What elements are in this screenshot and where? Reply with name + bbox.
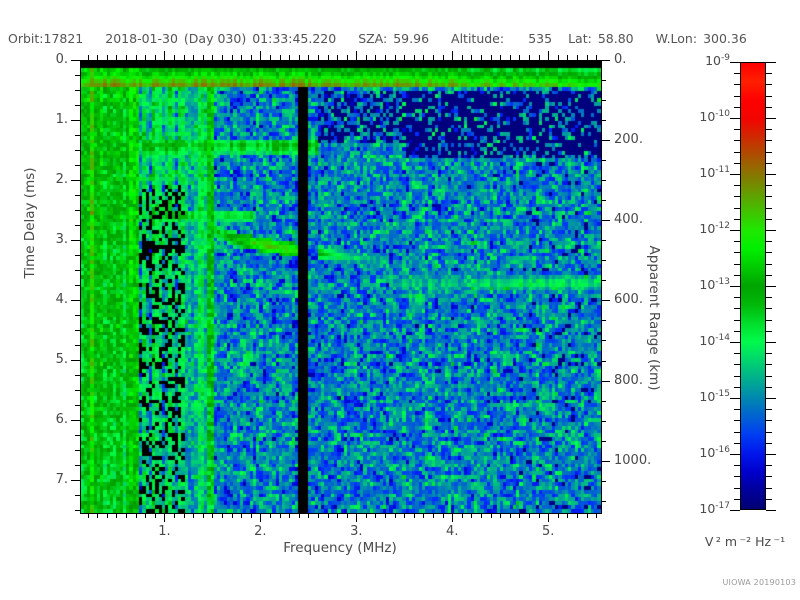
y-axis-right-title: Apparent Range (km) <box>646 218 662 418</box>
colorbar-tick-mantissa: 10 <box>699 109 715 124</box>
colorbar-tick-left <box>734 308 740 309</box>
x-tick-mark-top <box>280 55 281 60</box>
colorbar-tick-exponent: -13 <box>715 277 730 287</box>
colorbar-tick-exponent: -14 <box>715 333 730 343</box>
x-tick-mark-top <box>423 55 424 60</box>
colorbar-tick-right <box>766 454 776 455</box>
y-left-tick-mark <box>75 75 80 76</box>
sza-value: 59.96 <box>393 31 429 46</box>
colorbar-tick-label: 10-13 <box>678 277 730 292</box>
x-tick-mark-top <box>232 55 233 60</box>
wlon-label: W.Lon: <box>656 31 697 46</box>
colorbar-tick-right <box>766 308 772 309</box>
x-tick-mark-top <box>107 55 108 60</box>
observation-time: 01:33:45.220 <box>252 31 336 46</box>
colorbar-tick-left <box>734 73 740 74</box>
colorbar-tick-right <box>766 129 772 130</box>
y-right-tick-mark <box>601 340 606 341</box>
x-tick-mark <box>471 513 472 518</box>
colorbar-tick-mantissa: 10 <box>699 221 715 236</box>
colorbar-tick-right <box>766 196 772 197</box>
y-axis-left-title: Time Delay (ms) <box>22 143 38 303</box>
wlon-value: 300.36 <box>703 31 747 46</box>
colorbar-tick-exponent: -9 <box>721 53 730 63</box>
x-tick-mark <box>212 513 213 518</box>
y-left-tick-mark <box>71 360 80 361</box>
colorbar-tick-right <box>766 443 772 444</box>
x-tick-mark-top <box>462 55 463 60</box>
x-tick-mark <box>375 513 376 518</box>
x-tick-mark <box>529 513 530 518</box>
x-tick-mark-top <box>155 55 156 60</box>
colorbar-tick-right <box>766 208 772 209</box>
colorbar-tick-exponent: -16 <box>715 445 730 455</box>
colorbar-tick-left <box>734 387 740 388</box>
radargram-heatmap <box>81 61 601 513</box>
x-tick-mark <box>308 513 309 518</box>
colorbar-tick-right <box>766 353 772 354</box>
colorbar-tick-exponent: -12 <box>715 221 730 231</box>
x-tick-label: 2. <box>240 524 280 539</box>
y-left-tick-label: 7. <box>26 472 68 487</box>
x-tick-mark-top <box>548 51 549 60</box>
x-tick-mark <box>222 513 223 518</box>
y-right-tick-mark <box>601 361 606 362</box>
y-right-tick-mark <box>601 140 610 141</box>
y-left-tick-label: 6. <box>26 412 68 427</box>
colorbar-tick-left <box>734 488 740 489</box>
colorbar-tick-left <box>734 376 740 377</box>
colorbar-tick-right <box>766 107 772 108</box>
y-right-tick-mark <box>601 280 606 281</box>
colorbar-tick-left <box>730 510 740 511</box>
x-tick-mark <box>548 513 549 522</box>
x-tick-mark-top <box>193 55 194 60</box>
x-tick-mark <box>443 513 444 518</box>
x-tick-mark <box>184 513 185 518</box>
colorbar-tick-left <box>734 465 740 466</box>
x-tick-mark <box>395 513 396 518</box>
x-tick-mark <box>539 513 540 518</box>
x-tick-mark <box>337 513 338 518</box>
y-left-tick-mark <box>75 390 80 391</box>
x-tick-mark <box>193 513 194 518</box>
colorbar-tick-right <box>766 264 772 265</box>
colorbar-tick-label: 10-9 <box>678 53 730 68</box>
colorbar-tick-left <box>734 163 740 164</box>
x-tick-mark-top <box>126 55 127 60</box>
x-tick-mark <box>452 513 453 522</box>
x-tick-mark <box>107 513 108 518</box>
x-tick-mark-top <box>433 55 434 60</box>
colorbar-tick-left <box>734 208 740 209</box>
colorbar-tick-left <box>734 84 740 85</box>
colorbar-tick-left <box>734 331 740 332</box>
colorbar-tick-left <box>734 140 740 141</box>
colorbar-tick-right <box>766 241 772 242</box>
colorbar-tick-right <box>766 73 772 74</box>
y-left-tick-mark <box>75 165 80 166</box>
colorbar-tick-label: 10-16 <box>678 445 730 460</box>
x-tick-mark-top <box>539 55 540 60</box>
x-tick-mark-top <box>366 55 367 60</box>
y-right-tick-label: 0. <box>614 52 664 67</box>
x-tick-mark <box>510 513 511 518</box>
y-left-tick-mark <box>71 300 80 301</box>
colorbar-tick-right <box>766 140 772 141</box>
colorbar-tick-right <box>766 409 772 410</box>
x-tick-mark <box>164 513 165 522</box>
x-tick-mark-top <box>318 55 319 60</box>
x-tick-mark <box>299 513 300 518</box>
colorbar-tick-left <box>730 398 740 399</box>
radargram-panel <box>80 60 602 514</box>
x-tick-mark <box>481 513 482 518</box>
y-right-tick-mark <box>601 401 606 402</box>
colorbar-tick-label: 10-10 <box>678 109 730 124</box>
x-tick-mark <box>203 513 204 518</box>
y-right-tick-mark <box>601 100 606 101</box>
y-right-tick-mark <box>601 180 606 181</box>
x-tick-mark <box>500 513 501 518</box>
colorbar-tick-left <box>734 297 740 298</box>
x-tick-mark-top <box>116 55 117 60</box>
colorbar-tick-right <box>766 275 772 276</box>
colorbar-tick-right <box>766 163 772 164</box>
x-tick-mark-top <box>88 55 89 60</box>
y-left-tick-mark <box>75 450 80 451</box>
colorbar-tick-left <box>734 185 740 186</box>
y-left-tick-mark <box>75 255 80 256</box>
y-right-tick-mark <box>601 220 610 221</box>
x-tick-mark <box>145 513 146 518</box>
x-tick-mark <box>385 513 386 518</box>
y-left-tick-mark <box>71 240 80 241</box>
colorbar <box>740 62 766 510</box>
y-right-tick-label: 1000. <box>614 453 664 468</box>
colorbar-tick-right <box>766 499 772 500</box>
x-tick-mark <box>116 513 117 518</box>
colorbar-tick-exponent: -17 <box>715 501 730 511</box>
x-tick-mark-top <box>328 55 329 60</box>
x-tick-mark <box>356 513 357 522</box>
colorbar-tick-left <box>734 443 740 444</box>
colorbar-tick-exponent: -11 <box>715 165 730 175</box>
colorbar-tick-right <box>766 297 772 298</box>
y-right-tick-label: 200. <box>614 132 664 147</box>
colorbar-tick-left <box>734 241 740 242</box>
colorbar-tick-right <box>766 84 772 85</box>
altitude-label: Altitude: <box>451 31 504 46</box>
x-tick-mark-top <box>558 55 559 60</box>
x-tick-mark-top <box>164 51 165 60</box>
colorbar-tick-label: 10-12 <box>678 221 730 236</box>
x-tick-label: 3. <box>336 524 376 539</box>
x-tick-mark-top <box>203 55 204 60</box>
colorbar-tick-right <box>766 96 772 97</box>
x-tick-mark-top <box>443 55 444 60</box>
y-left-tick-mark <box>75 135 80 136</box>
observation-date: 2018-01-30 <box>105 31 178 46</box>
colorbar-tick-left <box>734 129 740 130</box>
y-left-tick-mark <box>75 315 80 316</box>
colorbar-tick-exponent: -15 <box>715 389 730 399</box>
y-left-tick-mark <box>75 270 80 271</box>
x-tick-mark <box>126 513 127 518</box>
x-tick-mark-top <box>337 55 338 60</box>
colorbar-gradient <box>740 62 766 510</box>
x-tick-mark <box>423 513 424 518</box>
x-tick-mark <box>347 513 348 518</box>
y-right-tick-mark <box>601 381 610 382</box>
y-left-tick-mark <box>75 345 80 346</box>
y-right-tick-mark <box>601 441 606 442</box>
y-right-tick-mark <box>601 260 606 261</box>
colorbar-tick-right <box>766 286 776 287</box>
watermark: UIOWA 20190103 <box>700 578 796 587</box>
y-left-tick-mark <box>75 435 80 436</box>
x-tick-mark-top <box>145 55 146 60</box>
x-tick-mark <box>97 513 98 518</box>
colorbar-tick-left <box>734 275 740 276</box>
x-tick-mark-top <box>260 51 261 60</box>
x-tick-mark <box>280 513 281 518</box>
y-right-tick-mark <box>601 240 606 241</box>
colorbar-tick-left <box>730 174 740 175</box>
colorbar-tick-left <box>734 420 740 421</box>
colorbar-tick-right <box>766 342 776 343</box>
colorbar-tick-left <box>734 476 740 477</box>
colorbar-tick-left <box>734 219 740 220</box>
colorbar-tick-left <box>730 230 740 231</box>
x-tick-label: 1. <box>144 524 184 539</box>
colorbar-tick-right <box>766 219 772 220</box>
colorbar-tick-label: 10-15 <box>678 389 730 404</box>
y-right-tick-mark <box>601 200 606 201</box>
y-left-tick-mark <box>75 285 80 286</box>
x-tick-mark <box>232 513 233 518</box>
x-tick-mark <box>251 513 252 518</box>
x-tick-mark <box>433 513 434 518</box>
colorbar-tick-mantissa: 10 <box>705 53 721 68</box>
colorbar-tick-right <box>766 432 772 433</box>
colorbar-tick-left <box>734 409 740 410</box>
x-tick-mark-top <box>347 55 348 60</box>
x-tick-mark-top <box>385 55 386 60</box>
x-tick-mark <box>404 513 405 518</box>
orbit-label: Orbit: <box>8 31 44 46</box>
x-tick-mark <box>289 513 290 518</box>
colorbar-tick-right <box>766 185 772 186</box>
y-left-tick-label: 0. <box>26 52 68 67</box>
y-left-tick-mark <box>75 375 80 376</box>
y-right-tick-mark <box>601 461 610 462</box>
colorbar-tick-left <box>734 96 740 97</box>
colorbar-tick-left <box>730 342 740 343</box>
colorbar-tick-left <box>734 196 740 197</box>
x-tick-mark-top <box>519 55 520 60</box>
colorbar-tick-right <box>766 320 772 321</box>
x-tick-mark <box>462 513 463 518</box>
x-tick-mark-top <box>184 55 185 60</box>
colorbar-tick-right <box>766 398 776 399</box>
x-tick-mark-top <box>577 55 578 60</box>
colorbar-tick-mantissa: 10 <box>699 333 715 348</box>
colorbar-tick-mantissa: 10 <box>699 389 715 404</box>
x-tick-label: 5. <box>528 524 568 539</box>
x-tick-mark <box>491 513 492 518</box>
colorbar-tick-exponent: -10 <box>715 109 730 119</box>
y-right-tick-mark <box>601 300 610 301</box>
x-tick-label: 4. <box>432 524 472 539</box>
x-axis-title: Frequency (MHz) <box>80 540 600 556</box>
x-tick-mark <box>558 513 559 518</box>
x-tick-mark-top <box>404 55 405 60</box>
colorbar-tick-left <box>734 499 740 500</box>
colorbar-tick-left <box>734 320 740 321</box>
y-right-tick-mark <box>601 120 606 121</box>
x-tick-mark-top <box>136 55 137 60</box>
colorbar-tick-left <box>734 107 740 108</box>
colorbar-tick-label: 10-11 <box>678 165 730 180</box>
x-tick-mark-top <box>500 55 501 60</box>
lat-value: 58.80 <box>598 31 634 46</box>
colorbar-tick-mantissa: 10 <box>699 501 715 516</box>
y-right-tick-mark <box>601 320 606 321</box>
x-tick-mark <box>577 513 578 518</box>
x-tick-mark-top <box>308 55 309 60</box>
x-tick-mark <box>414 513 415 518</box>
x-tick-mark-top <box>510 55 511 60</box>
y-left-tick-mark <box>75 150 80 151</box>
lat-label: Lat: <box>568 31 592 46</box>
colorbar-tick-left <box>730 118 740 119</box>
x-tick-mark <box>241 513 242 518</box>
colorbar-tick-left <box>734 432 740 433</box>
colorbar-tick-mantissa: 10 <box>699 445 715 460</box>
x-tick-mark-top <box>299 55 300 60</box>
x-tick-mark <box>519 513 520 518</box>
colorbar-tick-left <box>734 252 740 253</box>
y-right-tick-mark <box>601 80 606 81</box>
x-tick-mark <box>174 513 175 518</box>
colorbar-tick-right <box>766 230 776 231</box>
x-tick-mark-top <box>491 55 492 60</box>
x-tick-mark <box>260 513 261 522</box>
colorbar-tick-mantissa: 10 <box>699 277 715 292</box>
x-tick-mark <box>136 513 137 518</box>
colorbar-tick-right <box>766 364 772 365</box>
y-left-tick-label: 1. <box>26 112 68 127</box>
x-tick-mark-top <box>251 55 252 60</box>
y-left-tick-mark <box>71 480 80 481</box>
colorbar-tick-right <box>766 387 772 388</box>
y-left-tick-mark <box>75 465 80 466</box>
colorbar-tick-left <box>730 454 740 455</box>
metadata-header: Orbit: 17821 2018-01-30 (Day 030) 01:33:… <box>0 28 800 48</box>
altitude-value: 535 <box>510 31 552 46</box>
y-left-tick-mark <box>71 420 80 421</box>
x-tick-mark <box>596 513 597 518</box>
colorbar-tick-right <box>766 465 772 466</box>
x-tick-mark-top <box>375 55 376 60</box>
x-tick-mark-top <box>481 55 482 60</box>
x-tick-mark <box>155 513 156 518</box>
y-left-tick-mark <box>71 120 80 121</box>
colorbar-tick-right <box>766 376 772 377</box>
day-of-year: (Day 030) <box>184 31 246 46</box>
x-tick-mark-top <box>567 55 568 60</box>
x-tick-mark-top <box>174 55 175 60</box>
y-left-tick-mark <box>75 495 80 496</box>
y-right-tick-mark <box>601 421 606 422</box>
y-left-tick-mark <box>75 210 80 211</box>
sza-label: SZA: <box>358 31 387 46</box>
colorbar-tick-label: 10-14 <box>678 333 730 348</box>
y-left-tick-label: 5. <box>26 352 68 367</box>
x-tick-mark <box>328 513 329 518</box>
x-tick-mark <box>88 513 89 518</box>
y-left-tick-mark <box>71 60 80 61</box>
colorbar-tick-left <box>734 152 740 153</box>
y-left-tick-mark <box>71 180 80 181</box>
colorbar-tick-left <box>730 62 740 63</box>
colorbar-tick-right <box>766 174 776 175</box>
colorbar-tick-left <box>734 264 740 265</box>
colorbar-tick-right <box>766 476 772 477</box>
colorbar-tick-mantissa: 10 <box>699 165 715 180</box>
y-right-tick-mark <box>601 60 610 61</box>
x-tick-mark-top <box>222 55 223 60</box>
colorbar-tick-left <box>730 286 740 287</box>
x-tick-mark <box>318 513 319 518</box>
colorbar-tick-left <box>734 353 740 354</box>
x-tick-mark-top <box>356 51 357 60</box>
colorbar-tick-right <box>766 331 772 332</box>
y-right-tick-mark <box>601 160 606 161</box>
x-tick-mark-top <box>270 55 271 60</box>
x-tick-mark-top <box>452 51 453 60</box>
colorbar-tick-right <box>766 420 772 421</box>
colorbar-tick-right <box>766 488 772 489</box>
x-tick-mark-top <box>596 55 597 60</box>
x-tick-mark-top <box>529 55 530 60</box>
x-tick-mark-top <box>241 55 242 60</box>
x-tick-mark-top <box>395 55 396 60</box>
x-tick-mark-top <box>414 55 415 60</box>
colorbar-tick-right <box>766 118 776 119</box>
colorbar-tick-left <box>734 364 740 365</box>
y-left-tick-mark <box>75 90 80 91</box>
colorbar-tick-right <box>766 510 776 511</box>
x-tick-mark <box>587 513 588 518</box>
x-tick-mark <box>270 513 271 518</box>
y-left-tick-mark <box>75 195 80 196</box>
y-right-tick-mark <box>601 501 606 502</box>
x-tick-mark <box>366 513 367 518</box>
x-tick-mark-top <box>289 55 290 60</box>
y-left-tick-mark <box>75 330 80 331</box>
x-tick-mark-top <box>212 55 213 60</box>
colorbar-tick-right <box>766 62 776 63</box>
y-left-tick-mark <box>75 105 80 106</box>
x-tick-mark-top <box>97 55 98 60</box>
y-right-tick-mark <box>601 481 606 482</box>
y-left-tick-mark <box>75 225 80 226</box>
colorbar-tick-right <box>766 252 772 253</box>
x-tick-mark-top <box>471 55 472 60</box>
colorbar-tick-right <box>766 152 772 153</box>
